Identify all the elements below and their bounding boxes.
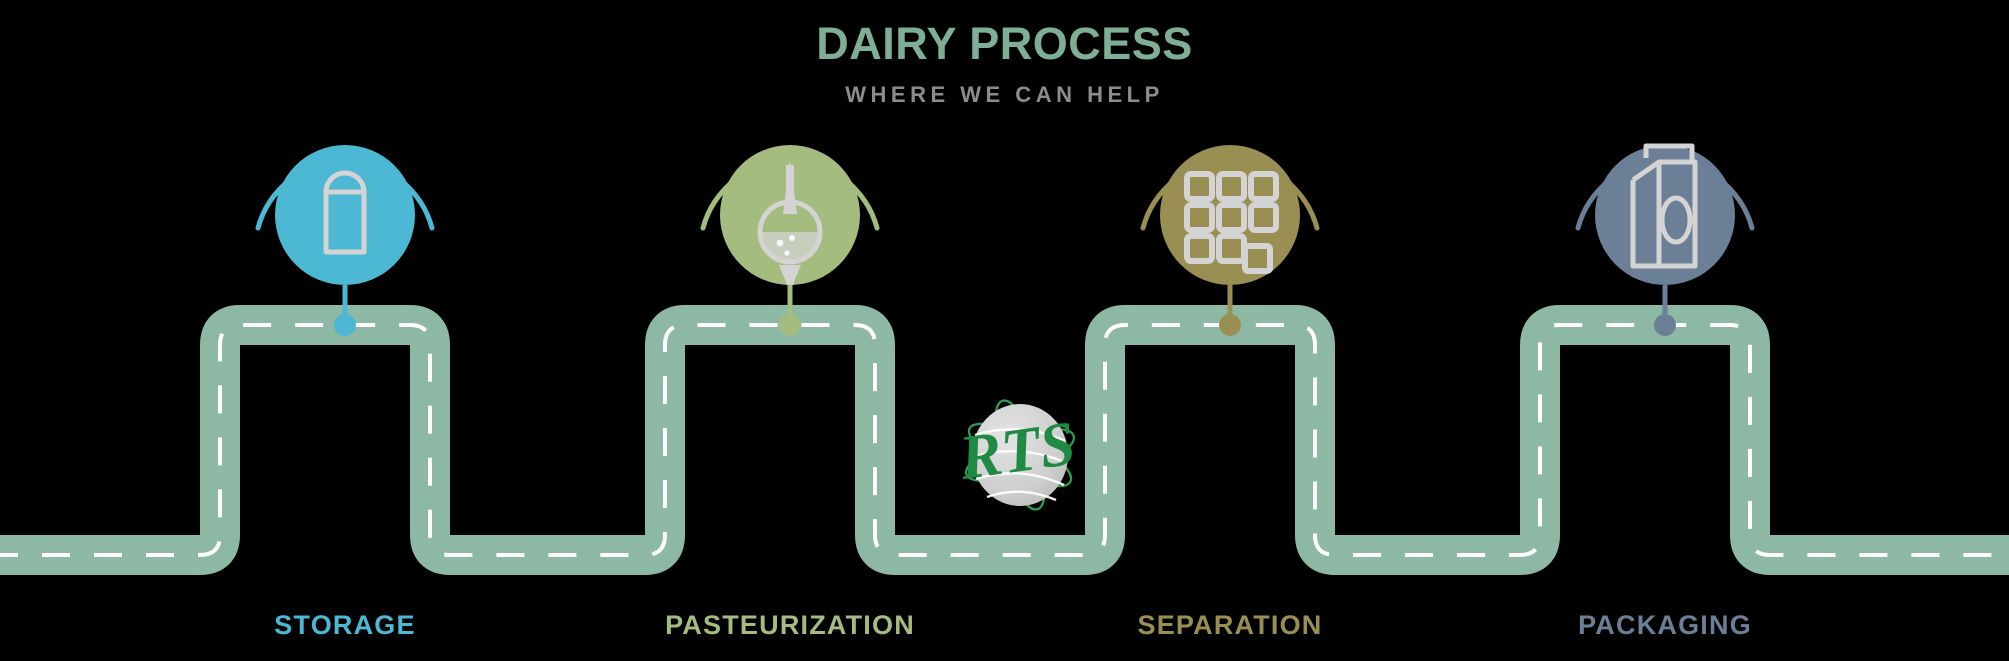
process-road-diagram: RTS xyxy=(0,0,2009,661)
label-packaging: PACKAGING xyxy=(1578,610,1752,641)
storage-circle xyxy=(275,145,415,285)
label-storage: STORAGE xyxy=(274,610,415,641)
separation-connector-dot xyxy=(1219,314,1241,336)
rts-logo: RTS xyxy=(954,395,1079,515)
pasteurization-connector-dot xyxy=(779,314,801,336)
storage-connector-dot xyxy=(334,314,356,336)
infographic-canvas: DAIRY PROCESS WHERE WE CAN HELP xyxy=(0,0,2009,661)
label-separation: SEPARATION xyxy=(1137,610,1322,641)
label-pasteurization: PASTEURIZATION xyxy=(665,610,915,641)
packaging-connector-dot xyxy=(1654,314,1676,336)
